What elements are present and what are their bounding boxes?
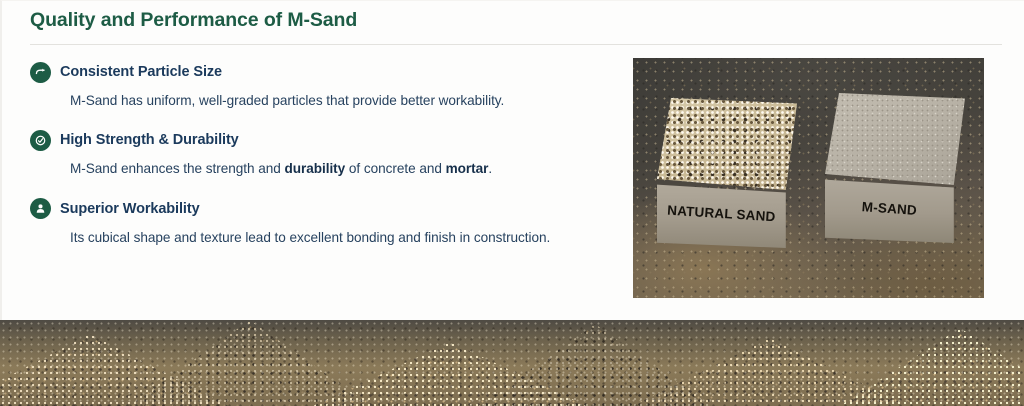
aggregate-stockpile-banner [0,320,1024,406]
feature-description-text: Its cubical shape and texture lead to ex… [70,230,550,245]
feature-description-text: M-Sand has uniform, well-graded particle… [70,93,504,108]
arrow-curve-icon [30,62,51,83]
quality-performance-card: Quality and Performance of M-Sand Consis… [0,0,1024,320]
feature-title: Superior Workability [60,201,200,217]
m-sand-block-top-face [825,93,965,185]
feature-title: Consistent Particle Size [60,64,222,80]
sand-comparison-photo: NATURAL SAND M-SAND [633,58,984,298]
aggregate-pile [830,328,1024,406]
feature-item-high-strength-durability: High Strength & Durability M-Sand enhanc… [30,129,610,178]
feature-description: M-Sand has uniform, well-graded particle… [70,92,610,110]
check-shield-icon [30,130,51,151]
feature-description-text: . [488,161,492,176]
feature-description: M-Sand enhances the strength and durabil… [70,160,610,178]
feature-description-emphasis: mortar [446,161,489,176]
feature-header: Consistent Particle Size [30,61,610,83]
m-sand-block: M-SAND [825,93,965,248]
title-divider [30,44,1002,45]
feature-list: Consistent Particle Size M-Sand has unif… [30,61,610,266]
person-icon [30,198,51,219]
page-title: Quality and Performance of M-Sand [30,9,357,32]
feature-title: High Strength & Durability [60,132,239,148]
page-root: Quality and Performance of M-Sand Consis… [0,0,1024,406]
feature-header: Superior Workability [30,198,610,220]
feature-item-consistent-particle-size: Consistent Particle Size M-Sand has unif… [30,61,610,110]
feature-description: Its cubical shape and texture lead to ex… [70,229,610,247]
feature-header: High Strength & Durability [30,129,610,151]
feature-description-text: M-Sand enhances the strength and [70,161,284,176]
feature-description-text: of concrete and [345,161,445,176]
natural-sand-block: NATURAL SAND [657,98,797,253]
feature-description-emphasis: durability [284,161,345,176]
natural-sand-block-top-face [657,98,797,190]
feature-item-superior-workability: Superior Workability Its cubical shape a… [30,198,610,247]
